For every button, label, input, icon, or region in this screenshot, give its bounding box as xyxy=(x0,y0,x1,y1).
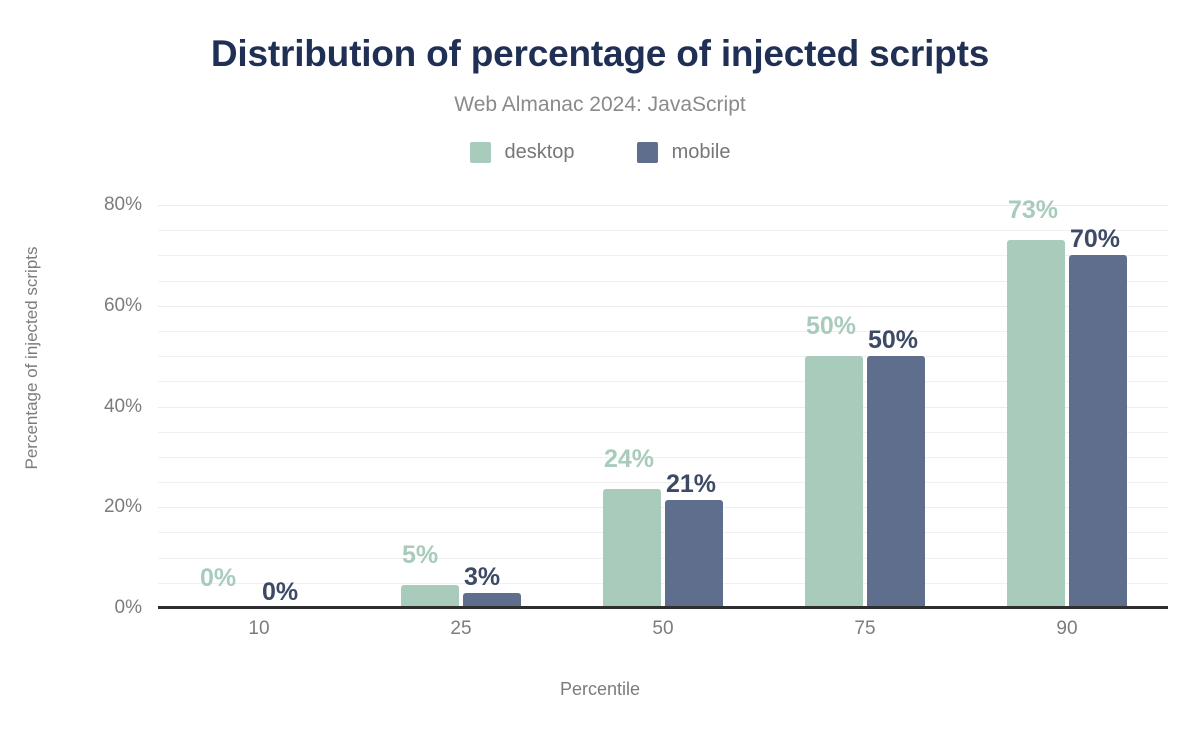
y-axis-title: Percentage of injected scripts xyxy=(22,78,42,638)
x-axis-tick-label: 90 xyxy=(987,618,1147,640)
y-axis-tick-label: 20% xyxy=(22,497,142,516)
bar-value-label-desktop-25: 5% xyxy=(402,541,438,569)
bar-mobile-75[interactable] xyxy=(867,356,925,608)
legend-swatch-mobile xyxy=(637,142,658,163)
bar-value-label-mobile-25: 3% xyxy=(464,563,500,591)
bar-value-label-mobile-75: 50% xyxy=(868,326,918,354)
legend-label-desktop: desktop xyxy=(505,141,575,163)
chart-title: Distribution of percentage of injected s… xyxy=(0,32,1200,76)
bar-value-label-desktop-90: 73% xyxy=(1008,196,1058,224)
bar-value-label-mobile-10: 0% xyxy=(262,578,298,606)
legend-item-desktop[interactable]: desktop xyxy=(470,141,575,163)
bar-chart: Distribution of percentage of injected s… xyxy=(0,0,1200,742)
y-axis-tick-label: 60% xyxy=(22,296,142,315)
bar-desktop-75[interactable] xyxy=(805,356,863,608)
x-axis-tick-label: 25 xyxy=(381,618,541,640)
legend-item-mobile[interactable]: mobile xyxy=(637,141,731,163)
x-axis-baseline xyxy=(158,606,1168,609)
bar-mobile-50[interactable] xyxy=(665,500,723,608)
chart-legend: desktop mobile xyxy=(0,141,1200,163)
legend-swatch-desktop xyxy=(470,142,491,163)
bar-desktop-90[interactable] xyxy=(1007,240,1065,608)
bar-value-label-desktop-10: 0% xyxy=(200,564,236,592)
x-axis-tick-label: 75 xyxy=(785,618,945,640)
x-axis-tick-label: 10 xyxy=(179,618,339,640)
bar-value-label-desktop-75: 50% xyxy=(806,312,856,340)
y-axis-tick-label: 40% xyxy=(22,397,142,416)
bar-desktop-25[interactable] xyxy=(401,585,459,608)
plot-area: 0%0%5%3%24%21%50%50%73%70% xyxy=(158,205,1168,608)
x-axis-title: Percentile xyxy=(0,678,1200,700)
bar-desktop-50[interactable] xyxy=(603,489,661,608)
bar-value-label-mobile-90: 70% xyxy=(1070,225,1120,253)
x-axis-tick-label: 50 xyxy=(583,618,743,640)
legend-label-mobile: mobile xyxy=(672,141,731,163)
bar-mobile-90[interactable] xyxy=(1069,255,1127,608)
bar-value-label-mobile-50: 21% xyxy=(666,470,716,498)
gridline xyxy=(158,230,1168,231)
y-axis-tick-label: 0% xyxy=(22,598,142,617)
y-axis-tick-label: 80% xyxy=(22,195,142,214)
bar-value-label-desktop-50: 24% xyxy=(604,445,654,473)
chart-subtitle: Web Almanac 2024: JavaScript xyxy=(0,92,1200,118)
